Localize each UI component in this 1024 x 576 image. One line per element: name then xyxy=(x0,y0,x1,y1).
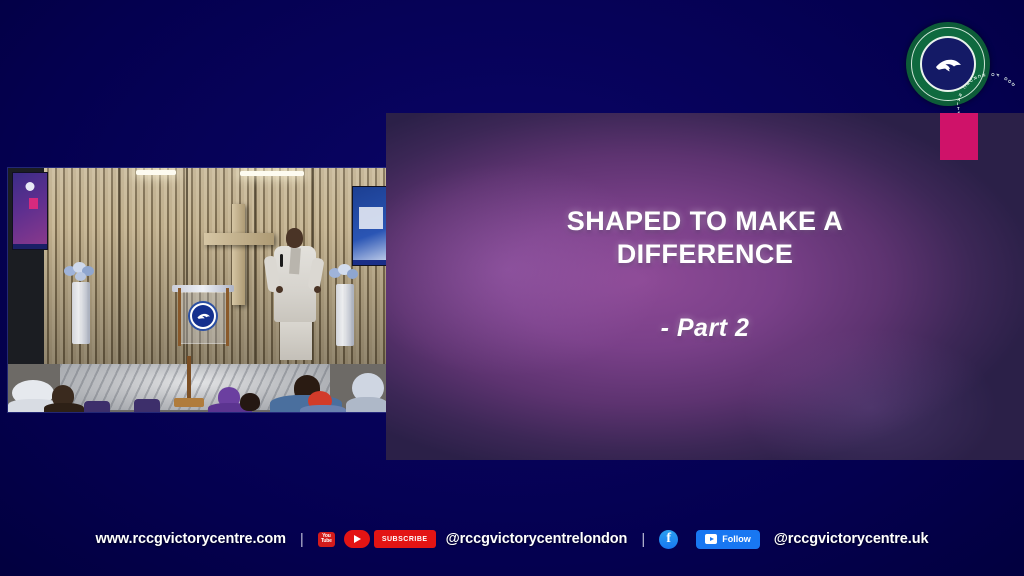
separator: | xyxy=(300,531,304,548)
logo-ring-char: N xyxy=(958,92,963,98)
follow-label: Follow xyxy=(722,534,751,544)
facebook-icon[interactable]: f xyxy=(659,530,678,549)
screen-lower-bar xyxy=(13,244,47,249)
sermon-slide[interactable]: SHAPED TO MAKE A DIFFERENCE - Part 2 xyxy=(386,113,1024,460)
vase xyxy=(72,282,90,344)
attendee-shoulders xyxy=(300,405,346,412)
lectern-top xyxy=(172,285,234,292)
preacher-hand xyxy=(314,286,321,293)
lectern-post xyxy=(178,288,181,346)
wall-seam xyxy=(118,168,120,364)
attendee-shoulders xyxy=(44,403,84,412)
flower xyxy=(75,272,86,281)
lectern-post xyxy=(226,288,229,346)
screen-lower-bar xyxy=(353,260,386,265)
livestream-stage: THE REDEEMED CHRISTIAN CHURCH OF GOD xyxy=(0,0,1024,576)
rccg-logo: THE REDEEMED CHRISTIAN CHURCH OF GOD xyxy=(906,22,990,106)
screen-logo-dot xyxy=(26,182,35,191)
lectern-emblem-ring xyxy=(192,305,214,327)
play-triangle xyxy=(354,535,361,543)
dove-icon xyxy=(933,54,963,74)
youtube-handle[interactable]: @rccgvictorycentrelondon xyxy=(446,531,628,547)
screen-accent-block xyxy=(29,198,38,209)
attendee-shoulders xyxy=(346,397,387,412)
separator: | xyxy=(641,531,645,548)
logo-ring-char: H xyxy=(981,73,986,77)
chair-back xyxy=(84,401,110,412)
logo-core xyxy=(920,36,976,92)
church-video-feed[interactable] xyxy=(8,168,387,412)
ceiling-light xyxy=(240,171,304,176)
preacher-lapel xyxy=(289,248,301,275)
flower-stand-right xyxy=(334,266,356,330)
vase xyxy=(336,284,354,346)
facebook-follow-button[interactable]: Follow xyxy=(696,530,760,549)
slide-text-block: SHAPED TO MAKE A DIFFERENCE - Part 2 xyxy=(386,113,1024,460)
youtube-icon[interactable]: You Tube xyxy=(318,532,335,547)
flower-stand-left xyxy=(70,264,92,330)
footer-bar: www.rccgvictorycentre.com | You Tube SUB… xyxy=(0,502,1024,576)
youtube-subscribe-button[interactable]: SUBSCRIBE xyxy=(374,530,436,548)
slide-title-line-2: DIFFERENCE xyxy=(567,238,843,271)
wall-seam xyxy=(254,168,256,364)
screen-content xyxy=(359,207,383,229)
youtube-group: You Tube SUBSCRIBE @rccgvictorycentrelon… xyxy=(318,530,659,548)
microphone xyxy=(280,254,283,267)
right-wall-screen xyxy=(352,186,387,266)
slide-title-line-1: SHAPED TO MAKE A xyxy=(567,205,843,238)
facebook-handle[interactable]: @rccgvictorycentre.uk xyxy=(774,531,929,547)
website-url[interactable]: www.rccgvictorycentre.com xyxy=(96,531,286,547)
subscribe-label: SUBSCRIBE xyxy=(382,536,428,543)
wall-cross-bar xyxy=(204,233,274,245)
website-group: www.rccgvictorycentre.com | xyxy=(96,531,318,548)
youtube-play-icon[interactable] xyxy=(344,530,370,548)
logo-ring-char: D xyxy=(1010,82,1016,88)
slide-subtitle: - Part 2 xyxy=(661,314,750,343)
facebook-mark: f xyxy=(666,532,671,546)
congregation xyxy=(8,373,387,412)
lectern-rccg-emblem xyxy=(188,301,218,331)
left-wall-screen xyxy=(12,172,48,250)
logo-ring-char: F xyxy=(995,73,1001,77)
flower xyxy=(347,269,358,279)
chair-back xyxy=(134,399,160,412)
ceiling-light xyxy=(136,170,176,175)
facebook-group: f Follow @rccgvictorycentre.uk xyxy=(659,530,928,549)
preacher-head xyxy=(286,228,303,248)
facebook-play-icon xyxy=(705,534,717,544)
slide-title: SHAPED TO MAKE A DIFFERENCE xyxy=(567,205,843,271)
preacher-hand xyxy=(276,286,283,293)
dove-icon xyxy=(196,311,211,321)
attendee-head xyxy=(240,393,260,411)
logo-ring-char: T xyxy=(957,106,960,111)
youtube-glyph-line-2: Tube xyxy=(321,539,332,544)
